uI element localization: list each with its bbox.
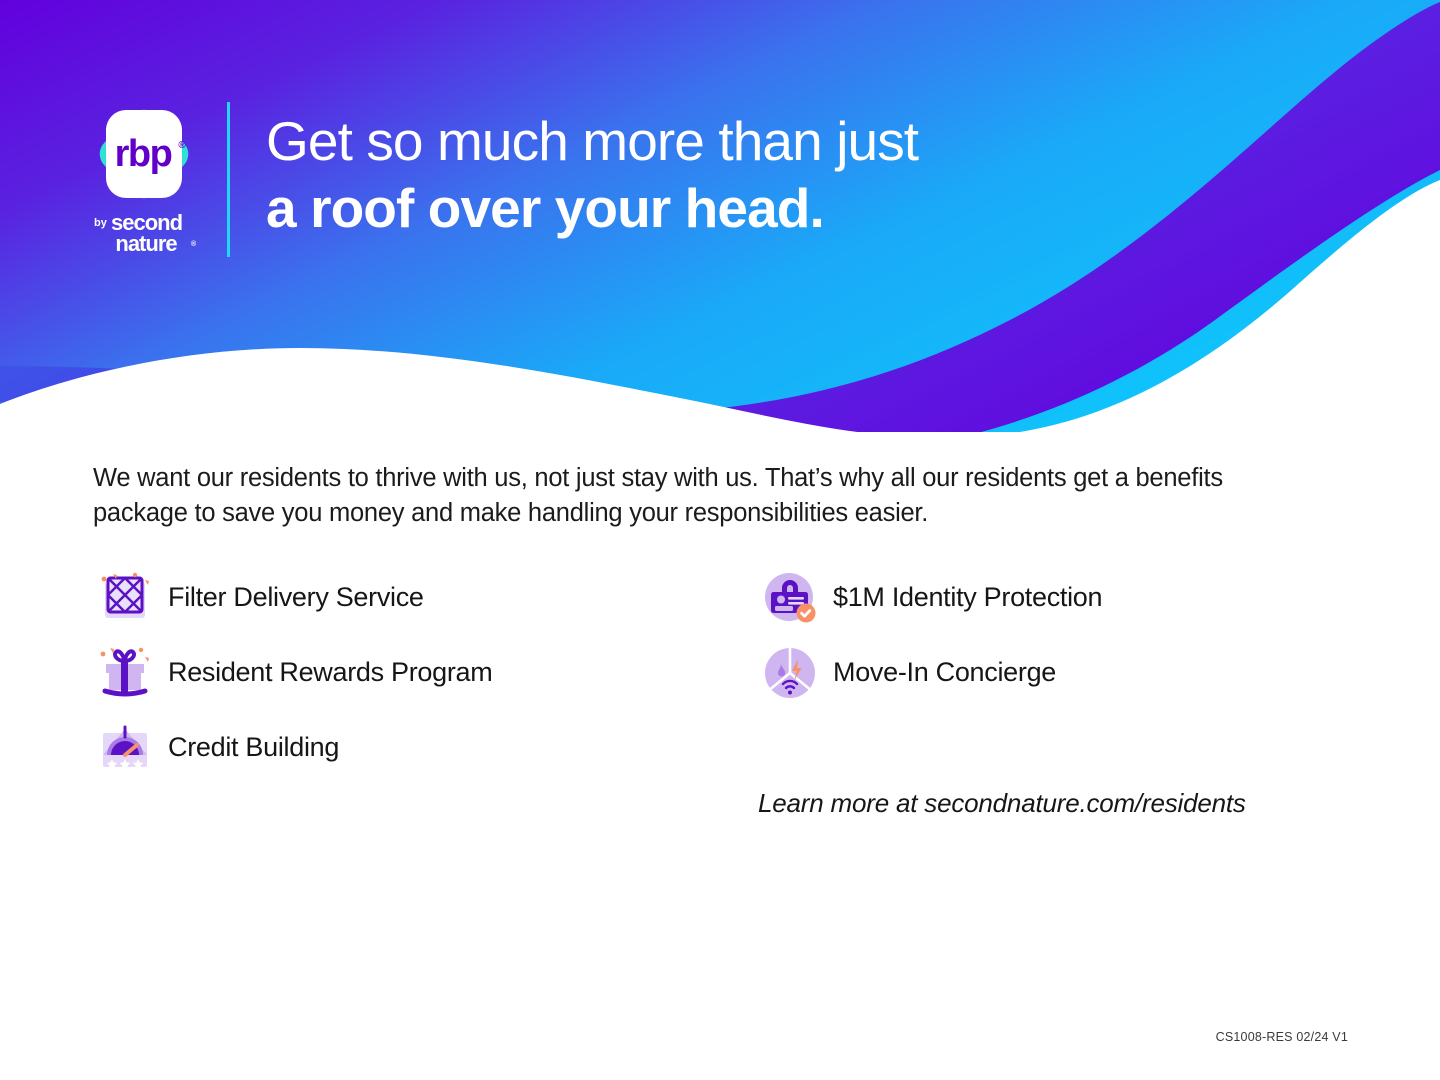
benefit-item-filter-delivery-service: Filter Delivery Service	[93, 560, 713, 635]
second-nature-byline: by second nature ®	[86, 208, 206, 260]
air-filter-icon	[93, 570, 157, 626]
benefit-label: $1M Identity Protection	[833, 582, 1102, 613]
rbp-registered-mark: ®	[178, 140, 186, 151]
rbp-logo: rbp ® by second nature ®	[86, 96, 208, 261]
rbp-wordmark-text: rbp	[115, 133, 172, 175]
benefits-column-right: $1M Identity Protection	[758, 560, 1378, 710]
benefit-item-credit-building: Credit Building	[93, 710, 713, 785]
benefit-item-resident-rewards-program: Resident Rewards Program	[93, 635, 713, 710]
id-badge-lock-icon	[758, 570, 822, 626]
byline-prefix-text: by	[94, 217, 108, 229]
rbp-logo-mark: rbp ®	[86, 96, 202, 212]
flyer-page: rbp ® by second nature ® Get so much mor…	[0, 0, 1440, 1080]
benefit-label: Credit Building	[168, 732, 339, 763]
page-title: Get so much more than just a roof over y…	[266, 108, 1166, 242]
benefit-label: Move-In Concierge	[833, 657, 1056, 688]
benefits-column-left: Filter Delivery Service	[93, 560, 713, 785]
byline-registered-mark: ®	[191, 240, 197, 248]
document-code: CS1008-RES 02/24 V1	[1216, 1030, 1348, 1044]
headline-line-2: a roof over your head.	[266, 174, 1166, 242]
benefit-label: Resident Rewards Program	[168, 657, 492, 688]
benefit-item-identity-protection: $1M Identity Protection	[758, 560, 1378, 635]
byline-nature-text: nature	[115, 231, 177, 256]
benefit-item-move-in-concierge: Move-In Concierge	[758, 635, 1378, 710]
header-vertical-divider	[227, 102, 230, 257]
utilities-circle-icon	[758, 645, 822, 701]
headline-line-1: Get so much more than just	[266, 108, 1166, 174]
gift-box-icon	[93, 645, 157, 701]
learn-more-text: Learn more at secondnature.com/residents	[758, 788, 1246, 819]
benefit-label: Filter Delivery Service	[168, 582, 424, 613]
credit-gauge-icon	[93, 720, 157, 776]
intro-paragraph: We want our residents to thrive with us,…	[93, 461, 1308, 531]
